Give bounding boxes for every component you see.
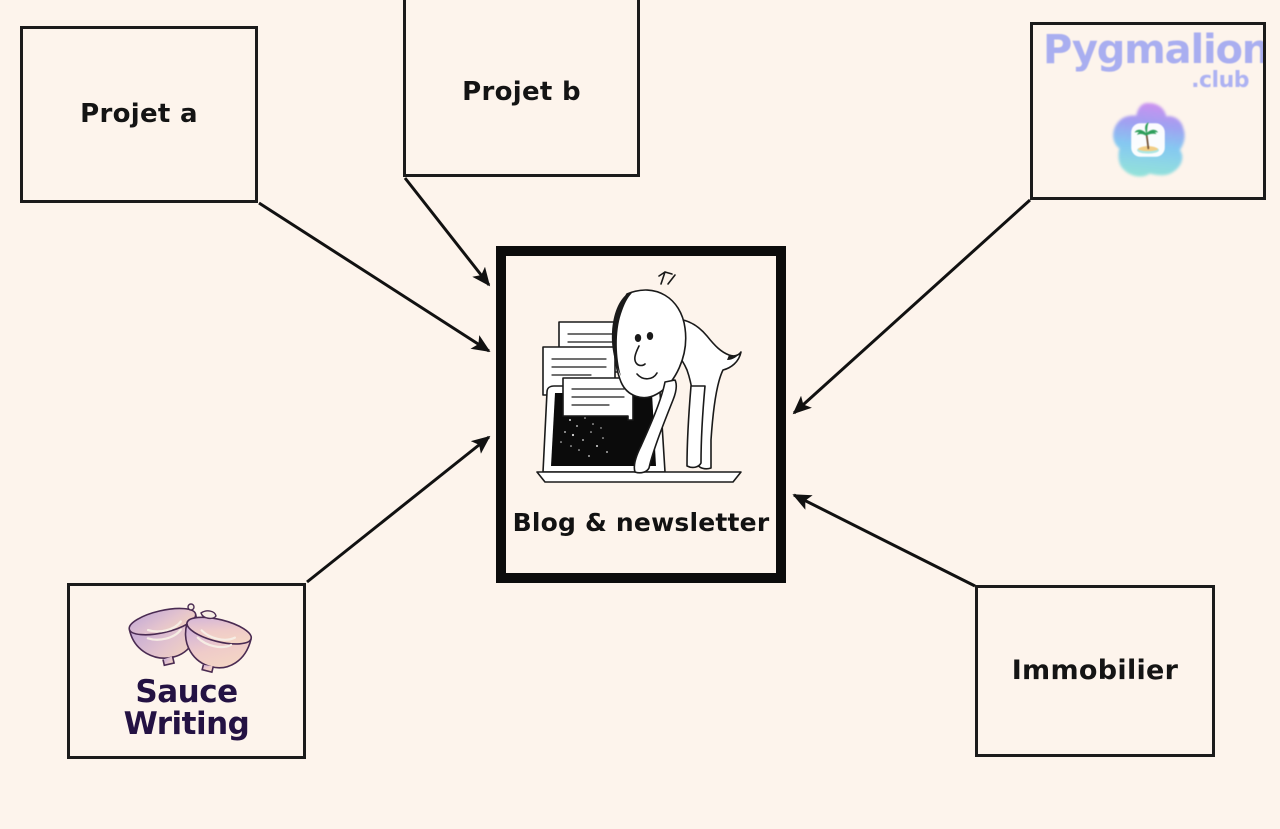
node-projet-b-label: Projet b (462, 78, 581, 107)
person-laptop-illustration (515, 260, 767, 506)
two-bowls-icon (117, 601, 257, 675)
connector-sauce-writing (307, 437, 489, 582)
connector-immobilier (794, 495, 975, 586)
pygmalion-tld-label: .club (1043, 69, 1255, 92)
connector-pygmalion (794, 200, 1030, 413)
palm-tree-island-badge-icon (1106, 98, 1190, 182)
sauce-writing-label-line1: Sauce (135, 677, 237, 709)
node-projet-a[interactable]: Projet a (20, 26, 258, 203)
sauce-writing-label-line2: Writing (124, 709, 250, 741)
node-projet-b[interactable]: Projet b (403, 0, 640, 177)
node-immobilier[interactable]: Immobilier (975, 585, 1215, 757)
connector-projet-a (259, 203, 489, 351)
node-blog-newsletter-caption: Blog & newsletter (513, 508, 770, 537)
pygmalion-wordmark: Pygmalion .club (1033, 31, 1263, 92)
diagram-canvas: Projet a Projet b Pygmalion .club (0, 0, 1280, 829)
node-pygmalion[interactable]: Pygmalion .club (1030, 22, 1266, 200)
node-immobilier-label: Immobilier (1012, 656, 1179, 686)
node-sauce-writing[interactable]: Sauce Writing (67, 583, 306, 759)
connector-projet-b (405, 178, 489, 285)
node-blog-newsletter[interactable]: Blog & newsletter (496, 246, 786, 583)
pygmalion-name-label: Pygmalion (1043, 31, 1255, 69)
node-projet-a-label: Projet a (80, 100, 198, 129)
